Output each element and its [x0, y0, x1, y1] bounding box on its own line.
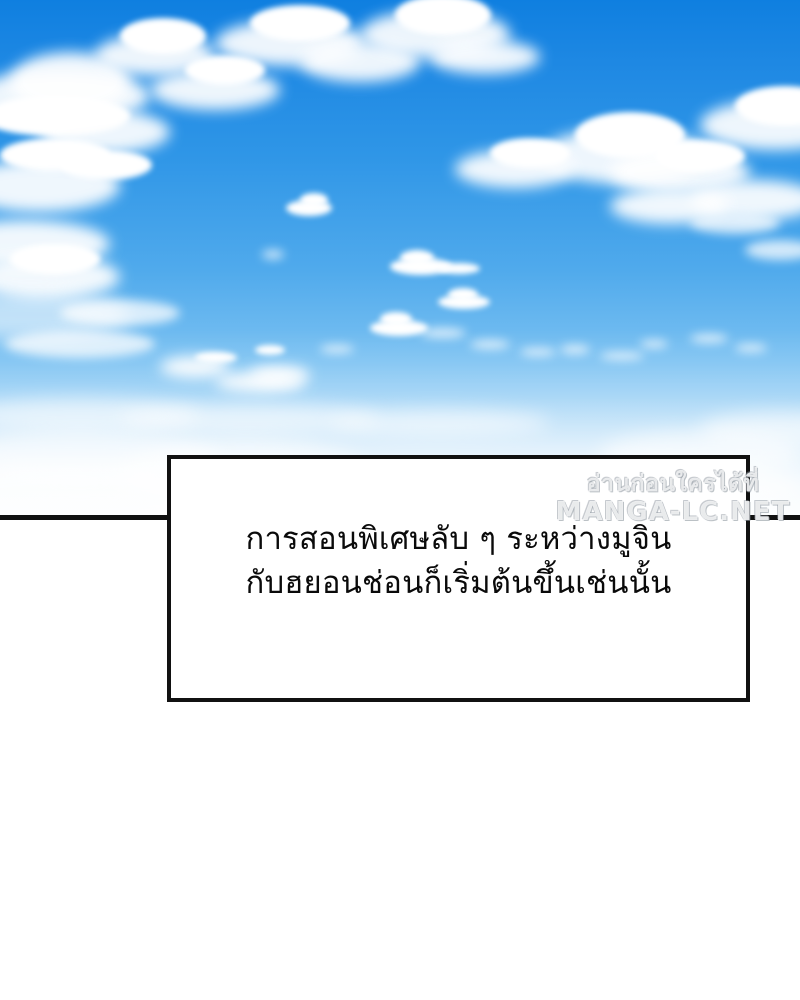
cloud [262, 250, 284, 259]
cloud [380, 312, 412, 326]
cloud [330, 410, 550, 436]
cloud [490, 138, 570, 168]
panel-gutter [0, 705, 800, 1000]
cloud [160, 356, 230, 378]
cloud [520, 348, 556, 356]
cloud [470, 340, 510, 349]
cloud [120, 18, 206, 54]
caption-line-1: การสอนพิเศษลับ ๆ ระหว่างมูจิน [245, 517, 671, 561]
cloud [690, 334, 728, 343]
cloud [60, 150, 152, 180]
dialogue-caption-box: การสอนพิเศษลับ ๆ ระหว่างมูจิน กับฮยอนช่อ… [167, 455, 750, 702]
cloud [448, 288, 478, 301]
cloud [300, 193, 328, 207]
cloud [560, 345, 590, 354]
cloud [10, 244, 100, 274]
cloud [600, 352, 644, 360]
cloud [420, 328, 466, 338]
cloud [430, 40, 540, 74]
cloud [640, 340, 668, 348]
cloud [438, 263, 480, 274]
cloud [255, 345, 285, 355]
comic-page: อ่านก่อนใครได้ที่ MANGA-LC.NET การสอนพิเ… [0, 0, 800, 1000]
cloud [735, 344, 767, 352]
cloud [320, 345, 354, 353]
cloud [60, 300, 180, 326]
cloud [250, 5, 350, 41]
cloud [250, 366, 310, 384]
cloud [5, 330, 155, 358]
cloud [400, 250, 434, 265]
cloud [690, 212, 780, 234]
sky-background-panel [0, 0, 800, 520]
cloud [745, 240, 800, 260]
caption-line-2: กับฮยอนช่อนก็เริ่มต้นขึ้นเช่นนั้น [246, 561, 672, 605]
